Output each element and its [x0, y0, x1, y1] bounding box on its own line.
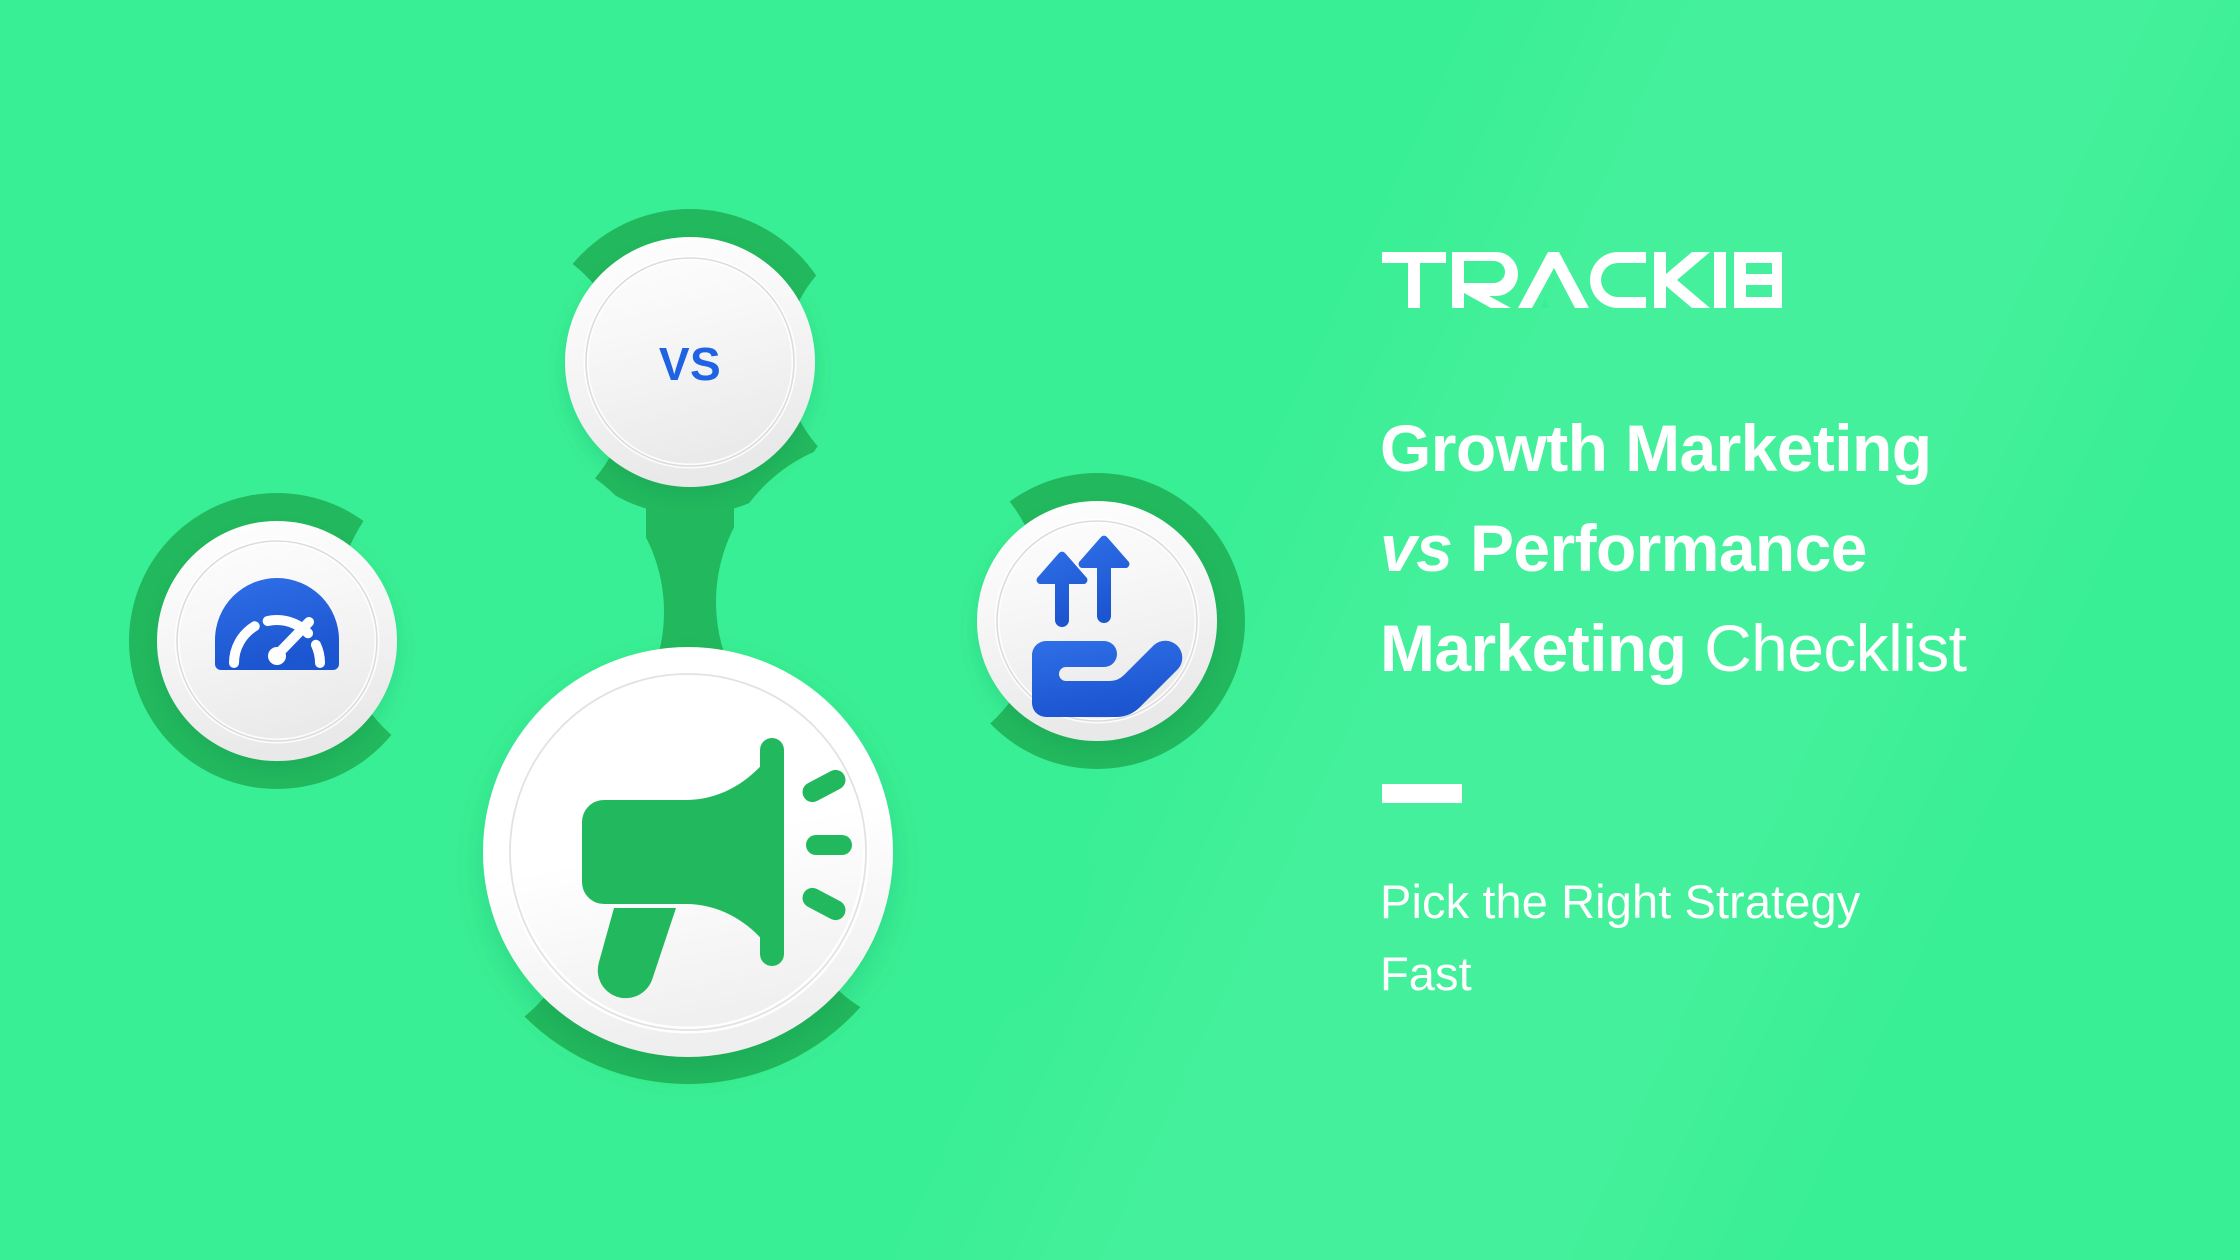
- megaphone-node[interactable]: [483, 647, 893, 1057]
- trackier-logo[interactable]: R: [1382, 252, 1782, 308]
- subtitle-line-1: Pick the Right Strategy: [1380, 866, 2080, 938]
- page-subtitle: Pick the Right Strategy Fast: [1380, 866, 2080, 1010]
- headline-line-3-light-text: Checklist: [1686, 611, 1966, 685]
- poster-canvas: VS: [0, 0, 2240, 1260]
- section-divider: [1382, 784, 1462, 803]
- headline-line-3: Marketing Checklist: [1380, 598, 2160, 698]
- headline-line-1-text: Growth Marketing: [1380, 411, 1931, 485]
- speedometer-node[interactable]: [157, 521, 397, 761]
- trackier-wordmark-icon: R: [1382, 252, 1782, 308]
- headline-line-2: vs Performance: [1380, 498, 2160, 598]
- page-title: Growth Marketing vs Performance Marketin…: [1380, 398, 2160, 698]
- subtitle-line-2: Fast: [1380, 938, 2080, 1010]
- vs-node-label: VS: [659, 338, 721, 390]
- headline-line-2-text: Performance: [1452, 511, 1867, 585]
- headline-line-1: Growth Marketing: [1380, 398, 2160, 498]
- growth-node[interactable]: [977, 501, 1217, 741]
- headline-vs-emphasis: vs: [1380, 511, 1452, 585]
- content-column: R Growth Marketing vs Performance Market…: [1380, 0, 2180, 1260]
- vs-node[interactable]: VS: [565, 237, 815, 487]
- headline-line-3-bold-text: Marketing: [1380, 611, 1686, 685]
- node-cluster-graphic: VS: [0, 0, 1340, 1260]
